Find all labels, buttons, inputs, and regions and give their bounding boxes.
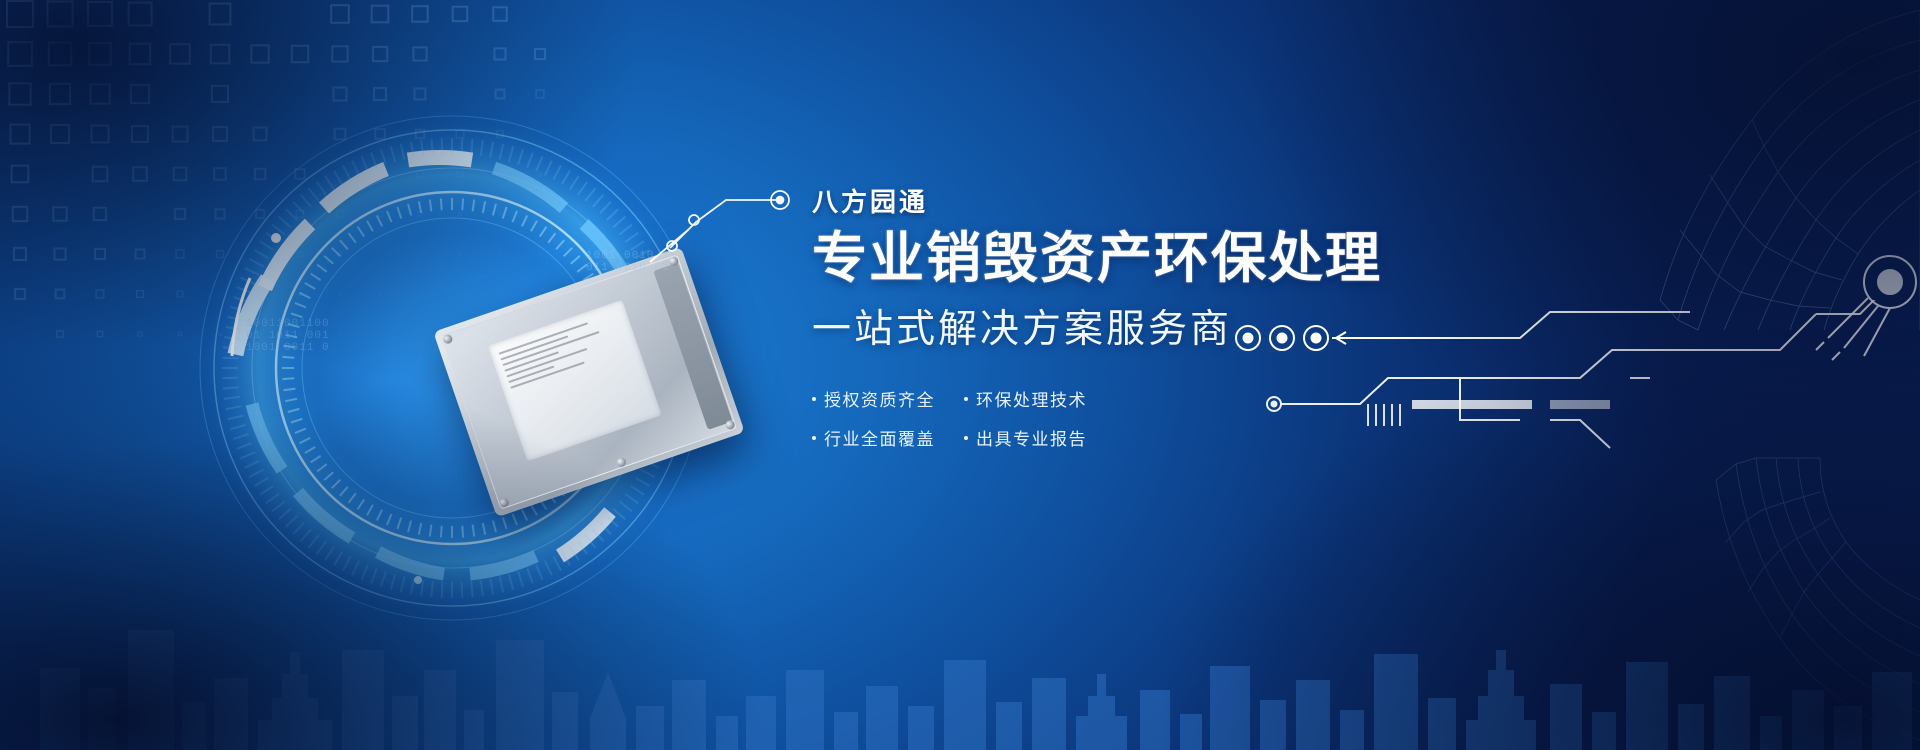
feature-row-1: 授权资质齐全 环保处理技术 — [812, 386, 1512, 411]
circuit-node-top-right — [1798, 236, 1920, 376]
city-skyline-silhouette — [0, 520, 1920, 750]
feature-item: 行业全面覆盖 — [812, 425, 942, 450]
banner-copy-block: 八方园通 专业销毁资产环保处理 一站式解决方案服务商 授权资质齐全 环保处理技术… — [812, 182, 1512, 464]
hero-banner: 10011001100 01 1011 001 1001 0011 0 1001… — [0, 0, 1920, 750]
feature-label: 授权资质齐全 — [824, 386, 935, 411]
bullet-dot-icon — [812, 397, 816, 401]
feature-item: 出具专业报告 — [964, 425, 1094, 450]
bullet-dot-icon — [964, 397, 968, 401]
feature-label: 出具专业报告 — [976, 425, 1087, 450]
feature-row-2: 行业全面覆盖 出具专业报告 — [812, 425, 1512, 450]
brand-name: 八方园通 — [812, 182, 1512, 219]
feature-item: 环保处理技术 — [964, 386, 1094, 411]
feature-item: 授权资质齐全 — [812, 386, 942, 411]
feature-label: 环保处理技术 — [976, 386, 1087, 411]
page-title: 专业销毁资产环保处理 — [812, 229, 1512, 288]
subtitle: 一站式解决方案服务商 — [812, 298, 1512, 354]
bullet-dot-icon — [964, 436, 968, 440]
feature-label: 行业全面覆盖 — [824, 425, 935, 450]
bullet-dot-icon — [812, 436, 816, 440]
